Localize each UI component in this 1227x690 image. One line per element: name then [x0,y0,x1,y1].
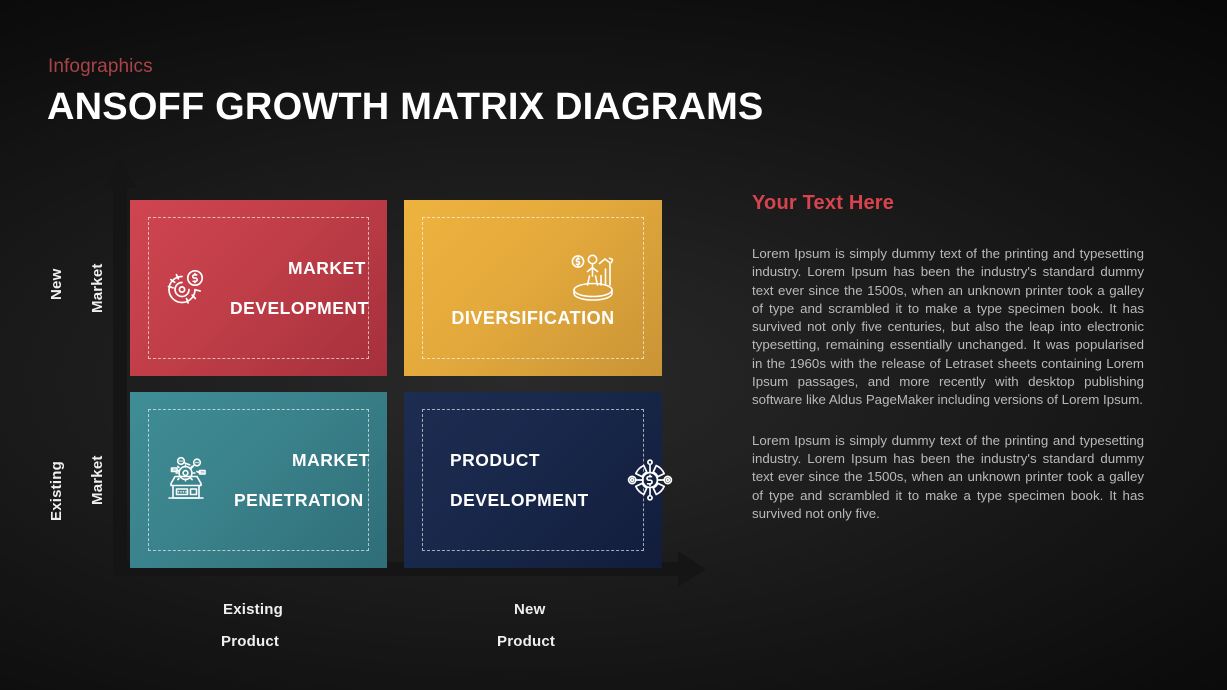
x-axis-arrowhead-icon [678,551,706,587]
text-panel: Your Text Here Lorem Ipsum is simply dum… [752,192,1144,523]
eyebrow-label: Infographics [48,56,153,78]
hub-dollar-icon [623,453,677,507]
quadrant-label-product-development: PRODUCT DEVELOPMENT [450,451,589,509]
y-axis-label-new: New [48,269,65,300]
panel-heading: Your Text Here [752,192,1144,215]
y-axis-arrowhead-icon [104,160,136,188]
quadrant-label-market-development: MARKET DEVELOPMENT [230,259,369,317]
growth-podium-icon [565,249,621,301]
y-axis-label-existing-market: Market [89,455,106,505]
y-axis-label-new-market: Market [89,263,106,313]
quadrant-market-penetration[interactable]: MARKET PENETRATION [130,392,387,568]
panel-paragraph-1: Lorem Ipsum is simply dummy text of the … [752,245,1144,410]
page-title: ANSOFF GROWTH MATRIX DIAGRAMS [47,84,763,130]
y-axis-line [113,186,127,576]
x-axis-label-new: New [514,601,545,618]
panel-paragraph-2: Lorem Ipsum is simply dummy text of the … [752,432,1144,523]
x-axis-label-new-product: Product [497,633,555,650]
y-axis-label-existing: Existing [48,461,65,521]
quadrant-diversification[interactable]: DIVERSIFICATION [404,200,662,376]
quadrant-market-development[interactable]: MARKET DEVELOPMENT [130,200,387,376]
storefront-network-icon [158,454,214,506]
quadrant-product-development[interactable]: PRODUCT DEVELOPMENT [404,392,662,568]
slide-canvas: Infographics ANSOFF GROWTH MATRIX DIAGRA… [0,0,1227,690]
x-axis-label-existing-product: Product [221,633,279,650]
pie-chart-dollar-icon [158,262,210,314]
quadrant-label-market-penetration: MARKET PENETRATION [234,451,370,509]
quadrant-label-diversification: DIVERSIFICATION [451,309,614,328]
x-axis-label-existing: Existing [223,601,283,618]
